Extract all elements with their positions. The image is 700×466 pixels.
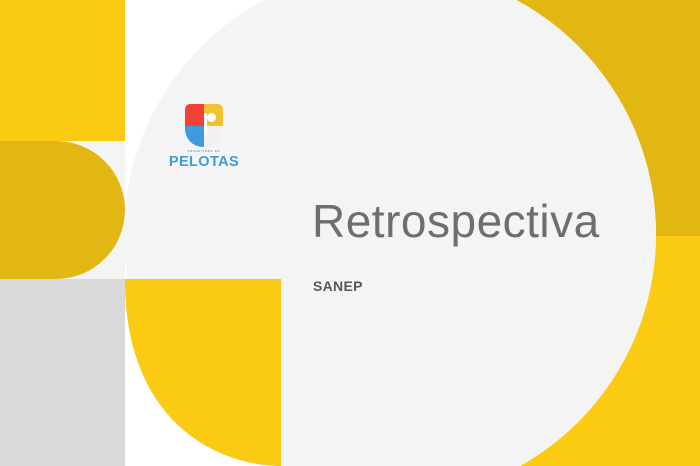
page-subtitle: SANEP: [313, 277, 363, 295]
shield-quadrant-blue: [185, 126, 204, 148]
pelotas-logo: PREFEITURA DE PELOTAS: [168, 104, 240, 170]
background-shape-gold-pill-left: [0, 141, 125, 279]
shield-letter-p-counter: [207, 113, 216, 122]
background-shape-yellow-top-left: [0, 0, 125, 141]
shield-quadrant-red: [185, 104, 204, 126]
shield-icon: [185, 104, 223, 147]
background-shape-grey-bottom-left: [0, 279, 125, 466]
logo-wordmark: PELOTAS: [168, 154, 240, 170]
presentation-slide: PREFEITURA DE PELOTAS Retrospectiva SANE…: [0, 0, 700, 466]
background-shape-yellow-quarter-visible: [125, 279, 281, 466]
page-title: Retrospectiva: [312, 193, 600, 249]
